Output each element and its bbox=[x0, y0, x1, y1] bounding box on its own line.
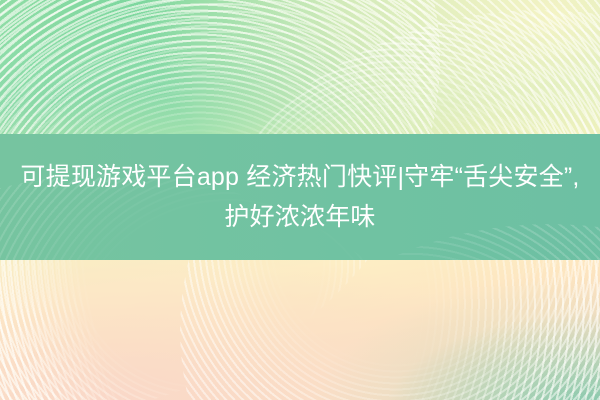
title-band: 可提现游戏平台app 经济热门快评|守牢“舌尖安全”, 护好浓浓年味 bbox=[0, 134, 600, 260]
page-title: 可提现游戏平台app 经济热门快评|守牢“舌尖安全”, 护好浓浓年味 bbox=[14, 157, 586, 237]
article-banner: 可提现游戏平台app 经济热门快评|守牢“舌尖安全”, 护好浓浓年味 bbox=[0, 0, 600, 400]
